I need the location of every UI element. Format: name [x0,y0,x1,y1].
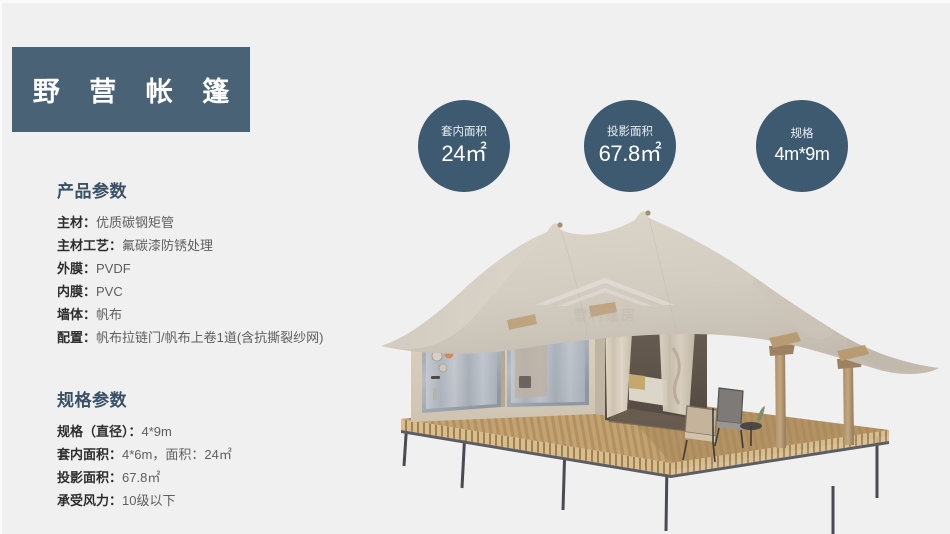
spec-row: 内膜：PVC [57,280,324,303]
size-params-heading: 规格参数 [57,386,232,411]
spec-row: 投影面积：67.8㎡ [57,466,232,489]
size-params-section: 规格参数 规格（直径）：4*9m 套内面积：4*6m，面积：24㎡ 投影面积：6… [57,386,232,512]
badge-label: 套内面积 [441,127,487,139]
spec-value: 帆布拉链门/帆布上卷1道(含抗撕裂纱网) [96,330,324,345]
support-post-center [775,348,786,448]
badge-label: 投影面积 [607,127,653,139]
product-spec-page: 野 营 帐 篷 产品参数 主材：优质碳钢矩管 主材工艺：氟碳漆防锈处理 外膜：P… [0,0,950,534]
spec-value: 67.8㎡ [122,470,160,485]
badge-projected-area: 投影面积 67.8㎡ [584,100,676,192]
spec-key: 承受风力： [57,493,122,508]
spec-key: 投影面积： [57,470,122,485]
spec-value: 4*9m [142,424,172,439]
spec-key: 套内面积： [57,447,122,462]
spec-value: 优质碳钢矩管 [96,215,174,230]
spec-row: 套内面积：4*6m，面积：24㎡ [57,443,232,466]
spec-value: 氟碳漆防锈处理 [122,238,213,253]
spec-value: PVC [96,284,123,299]
canopy-peak-left [557,222,562,227]
page-title: 野 营 帐 篷 [22,70,241,109]
title-banner: 野 营 帐 篷 [12,47,250,132]
spec-key: 外膜： [57,261,96,276]
product-params-heading: 产品参数 [57,177,324,202]
spec-key: 墙体： [57,307,96,322]
spec-row: 主材：优质碳钢矩管 [57,211,324,234]
lounge-chair [717,388,743,424]
support-post-right [843,361,854,445]
spec-row: 配置：帆布拉链门/帆布上卷1道(含抗撕裂纱网) [57,326,324,349]
badge-value: 24㎡ [441,143,486,165]
product-params-section: 产品参数 主材：优质碳钢矩管 主材工艺：氟碳漆防锈处理 外膜：PVDF 内膜：P… [57,177,324,349]
badge-specification: 规格 4m*9m [756,100,848,192]
spec-value: 10级以下 [122,493,175,508]
pillow [629,374,645,390]
spec-value: 帆布 [96,307,122,322]
spec-value: 4*6m，面积：24㎡ [122,447,232,462]
spec-key: 主材工艺： [57,238,122,253]
badge-label: 规格 [791,129,814,141]
badge-value: 4m*9m [774,145,829,163]
spec-row: 墙体：帆布 [57,303,324,326]
spec-key: 规格（直径）： [57,424,142,439]
wall-decor-plate [439,364,447,372]
tent-product-image [377,198,950,534]
spec-row: 承受风力：10级以下 [57,489,232,512]
spec-key: 主材： [57,215,96,230]
badge-indoor-area: 套内面积 24㎡ [418,100,510,192]
spec-row: 规格（直径）：4*9m [57,420,232,443]
interior-furniture [519,376,531,388]
spec-value: PVDF [96,261,131,276]
spec-key: 内膜： [57,284,96,299]
spec-row: 主材工艺：氟碳漆防锈处理 [57,234,324,257]
canopy-peak-right [645,210,650,215]
spec-row: 外膜：PVDF [57,257,324,280]
spec-key: 配置： [57,330,96,345]
badge-value: 67.8㎡ [599,143,662,165]
